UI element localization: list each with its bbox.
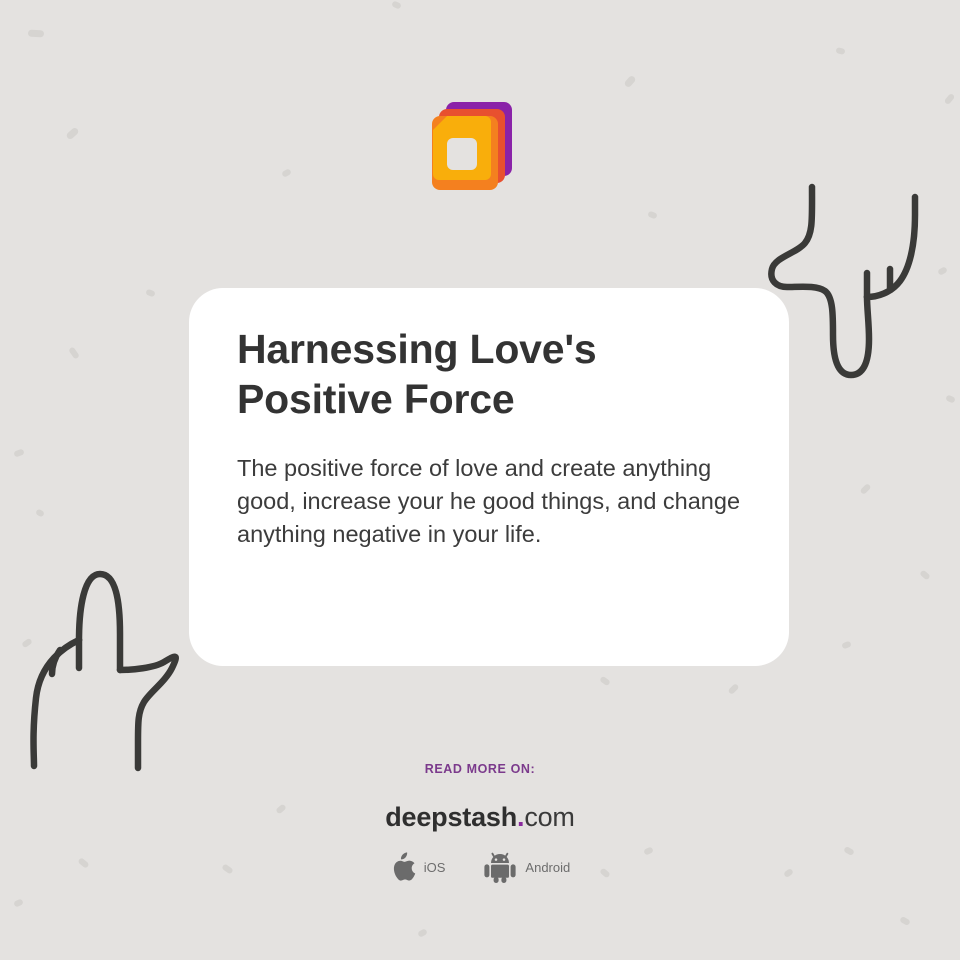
confetti-mark: [727, 683, 739, 695]
android-icon: [483, 852, 517, 883]
store-badges: iOS: [0, 852, 960, 883]
confetti-mark: [841, 641, 852, 650]
read-more-label: READ MORE ON:: [0, 762, 960, 776]
confetti-mark: [281, 168, 292, 178]
wordmark-tld: com: [524, 802, 574, 832]
confetti-mark: [145, 289, 156, 298]
confetti-mark: [13, 448, 24, 457]
confetti-mark: [417, 928, 428, 938]
deepstash-wordmark[interactable]: deepstash.com: [0, 802, 960, 833]
confetti-mark: [35, 508, 45, 517]
deepstash-logo: [425, 100, 520, 197]
confetti-mark: [65, 127, 79, 141]
confetti-mark: [13, 898, 24, 907]
confetti-mark: [945, 394, 956, 403]
confetti-mark: [944, 93, 956, 105]
logo-inner-square: [447, 138, 477, 170]
wordmark-name: deepstash: [385, 802, 517, 832]
store-label-android: Android: [525, 860, 570, 875]
card-body-text: The positive force of love and create an…: [237, 452, 741, 551]
hand-pointing-up-illustration: [22, 562, 200, 774]
confetti-mark: [391, 0, 402, 9]
footer: READ MORE ON: deepstash.com iOS: [0, 762, 960, 883]
share-card-canvas: Harnessing Love's Positive Force The pos…: [0, 0, 960, 960]
confetti-mark: [859, 483, 871, 495]
confetti-mark: [68, 346, 80, 359]
confetti-mark: [623, 75, 636, 89]
apple-icon: [390, 852, 416, 883]
page-title: Harnessing Love's Positive Force: [237, 324, 741, 424]
store-badge-android[interactable]: Android: [483, 852, 570, 883]
store-badge-ios[interactable]: iOS: [390, 852, 446, 883]
confetti-mark: [919, 569, 931, 580]
confetti-mark: [899, 916, 911, 926]
store-label-ios: iOS: [424, 860, 446, 875]
content-card: Harnessing Love's Positive Force The pos…: [189, 288, 789, 666]
confetti-mark: [647, 211, 658, 220]
confetti-mark: [835, 47, 845, 55]
confetti-mark: [28, 30, 44, 38]
confetti-mark: [599, 676, 611, 687]
